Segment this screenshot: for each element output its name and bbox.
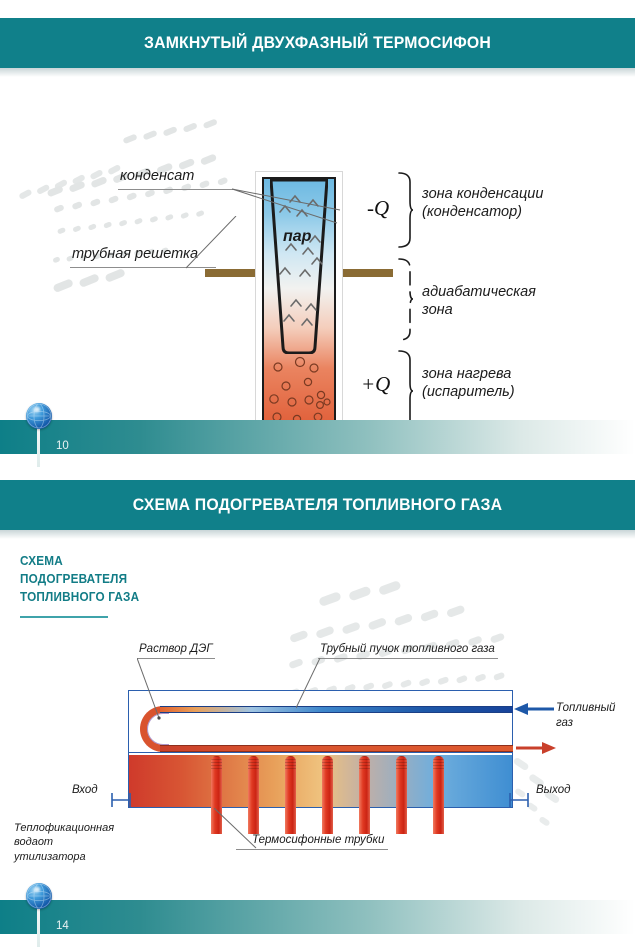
label-inlet: Вход [72, 783, 98, 798]
thermosiphon-tube [396, 756, 407, 834]
leader-tube-sheet [186, 216, 246, 270]
side-title-line-3: ТОПЛИВНОГО ГАЗА [20, 588, 139, 606]
water-level-line [128, 752, 513, 753]
label-tube-bundle-underline [318, 658, 498, 659]
zone-brace-adiabatic [398, 258, 414, 342]
slide-thermosiphon: ЗАМКНУТЫЙ ДВУХФАЗНЫЙ ТЕРМОСИФОН [0, 0, 635, 470]
label-tube-sheet: трубная решетка [72, 246, 198, 262]
label-thermosiphon-tubes: Термосифонные трубки [252, 833, 384, 848]
boiling-bubbles [264, 355, 336, 429]
tube-cap [359, 756, 370, 769]
leader-condensate [232, 178, 342, 238]
slide-fuel-gas-heater: СХЕМА ПОДОГРЕВАТЕЛЯ ТОПЛИВНОГО ГАЗА [0, 470, 635, 948]
label-condensate: конденсат [120, 168, 194, 184]
thermosiphon-tube [359, 756, 370, 834]
leader-tube-bundle [296, 658, 322, 710]
zone-heating-line2: (испаритель) [422, 384, 515, 402]
tube-cap [322, 756, 333, 769]
side-title-line-2: ПОДОГРЕВАТЕЛЯ [20, 570, 139, 588]
tube-cap [285, 756, 296, 769]
label-heating-water-line1: Теплофикационная [14, 821, 114, 835]
tube-cap [248, 756, 259, 769]
slide1-page-number: 10 [56, 440, 69, 452]
side-title-line-1: СХЕМА [20, 552, 139, 570]
zone-adiabatic-line2: зона [422, 302, 536, 320]
water-outlet-port [508, 790, 530, 810]
slide1-pin-stem [37, 425, 40, 467]
thermosiphon-tube [433, 756, 444, 834]
label-heating-water-line3: утилизатора [14, 850, 114, 864]
zone-brace-condensation [398, 172, 414, 248]
pipe-gas-inlet [160, 706, 513, 713]
thermosiphon-diagram: пар конденсат трубная решетка [0, 50, 635, 400]
tube-cap [211, 756, 222, 769]
tube-sheet-plate-right [335, 269, 393, 277]
label-fuel-gas-line2: газ [556, 716, 615, 731]
zone-label-adiabatic: адиабатическая зона [422, 284, 536, 319]
label-fuel-gas: Топливный газ [556, 701, 615, 731]
label-outlet: Выход [536, 783, 571, 798]
slide2-title-shadow [0, 530, 635, 539]
tube-cap [433, 756, 444, 769]
slide2-side-title: СХЕМА ПОДОГРЕВАТЕЛЯ ТОПЛИВНОГО ГАЗА [20, 552, 139, 606]
label-minus-q: -Q [367, 196, 389, 221]
zone-label-condensation: зона конденсации (конденсатор) [422, 186, 543, 221]
label-deg-solution: Раствор ДЭГ [139, 642, 213, 657]
zone-condensation-line2: (конденсатор) [422, 204, 543, 222]
slide2-page-number: 14 [56, 920, 69, 932]
thermosiphon-tube [322, 756, 333, 834]
globe-grid-icon [26, 403, 52, 429]
label-condensate-underline [118, 189, 233, 190]
slide2-footer-bar [0, 900, 635, 934]
globe-grid-icon [26, 883, 52, 909]
water-inlet-port [110, 790, 132, 810]
label-fuel-gas-line1: Топливный [556, 701, 615, 716]
zone-heating-line1: зона нагрева [422, 366, 515, 384]
label-heating-water: Теплофикационная водаот утилизатора [14, 821, 114, 864]
tube-cap [396, 756, 407, 769]
label-heating-water-line2: водаот [14, 835, 114, 849]
label-thermosiphon-underline [236, 849, 388, 850]
label-plus-q: +Q [361, 372, 390, 397]
fuel-gas-arrows [514, 698, 556, 758]
zone-adiabatic-line1: адиабатическая [422, 284, 536, 302]
zone-condensation-line1: зона конденсации [422, 186, 543, 204]
presentation-page: ЗАМКНУТЫЙ ДВУХФАЗНЫЙ ТЕРМОСИФОН [0, 0, 635, 948]
leader-deg-solution [137, 658, 161, 720]
label-tube-bundle: Трубный пучок топливного газа [320, 642, 495, 657]
slide2-title: СХЕМА ПОДОГРЕВАТЕЛЯ ТОПЛИВНОГО ГАЗА [22, 480, 613, 530]
pipe-gas-outlet [160, 745, 513, 752]
thermosiphon-tube [285, 756, 296, 834]
slide1-footer-bar [0, 420, 635, 454]
heating-water-body [129, 755, 512, 807]
zone-label-heating: зона нагрева (испаритель) [422, 366, 515, 401]
slide2-side-rule [20, 616, 108, 618]
globe-icon [26, 403, 52, 429]
slide2-pin-stem [37, 905, 40, 947]
leader-thermosiphon-tubes [214, 808, 258, 850]
globe-icon [26, 883, 52, 909]
slide2-title-bar: СХЕМА ПОДОГРЕВАТЕЛЯ ТОПЛИВНОГО ГАЗА [0, 480, 635, 530]
